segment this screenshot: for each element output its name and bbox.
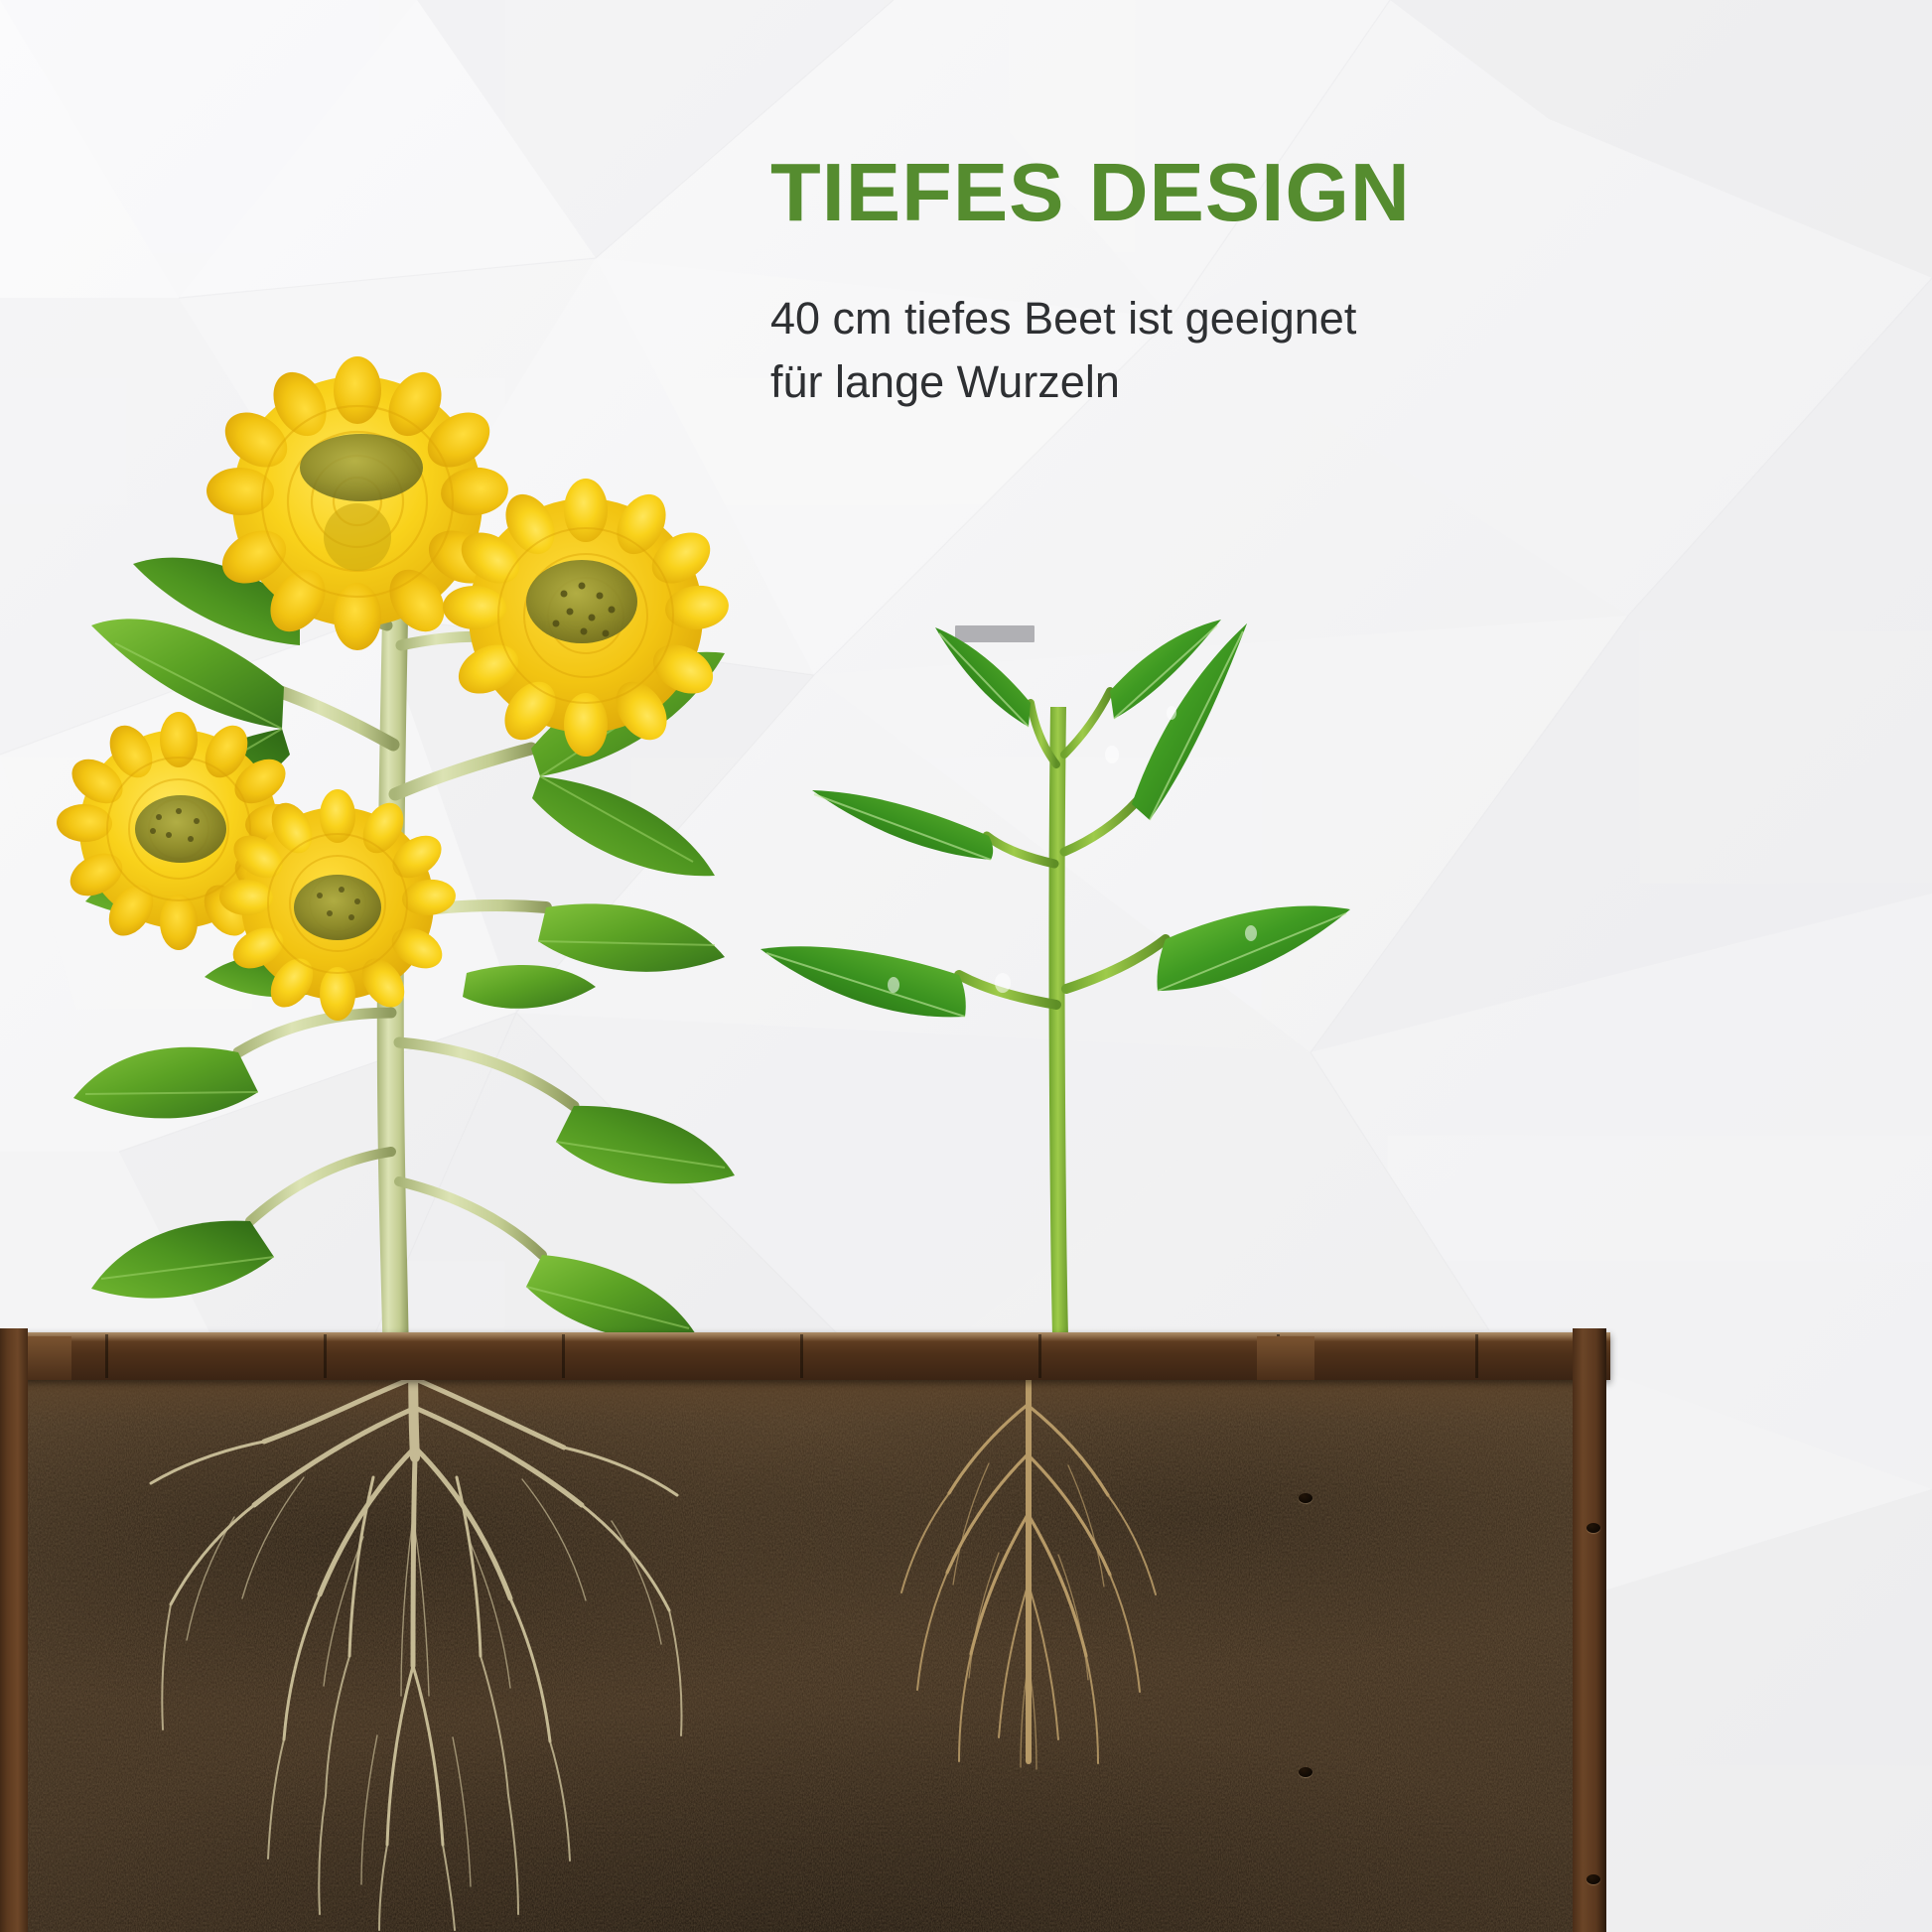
bed-slat-seam — [800, 1334, 803, 1378]
wooden-raised-bed — [0, 1318, 1638, 1932]
subtitle-line-1: 40 cm tiefes Beet ist geeignet — [770, 293, 1356, 344]
subtitle-line-2: für lange Wurzeln — [770, 356, 1120, 407]
marketing-image-canvas: TIEFES DESIGN 40 cm tiefes Beet ist geei… — [0, 0, 1932, 1932]
bed-slat-seam — [562, 1334, 565, 1378]
bed-slat-seam — [105, 1334, 108, 1378]
bed-screw — [1587, 1874, 1600, 1884]
seedling-root-system — [880, 1344, 1177, 1771]
bed-slat-seam — [1038, 1334, 1041, 1378]
sunflower-root-system — [115, 1338, 751, 1932]
page-title: TIEFES DESIGN — [770, 149, 1438, 235]
bed-post-left — [0, 1328, 28, 1932]
subtitle: 40 cm tiefes Beet ist geeignet für lange… — [770, 287, 1406, 414]
bed-slat-seam — [324, 1334, 327, 1378]
sunflower-bloom-2 — [442, 479, 731, 757]
bed-corner-block-mid — [1257, 1336, 1314, 1380]
seedling-plant — [755, 616, 1370, 1440]
sunflower-plant — [30, 328, 784, 1410]
bed-post-right — [1573, 1328, 1606, 1932]
bed-screw — [1299, 1767, 1312, 1777]
bed-screw — [1299, 1493, 1312, 1503]
bed-screw — [1587, 1523, 1600, 1533]
bed-top-rail-highlight — [10, 1332, 1610, 1341]
bed-slat-seam — [1475, 1334, 1478, 1378]
copy-block: TIEFES DESIGN 40 cm tiefes Beet ist geei… — [743, 149, 1438, 414]
